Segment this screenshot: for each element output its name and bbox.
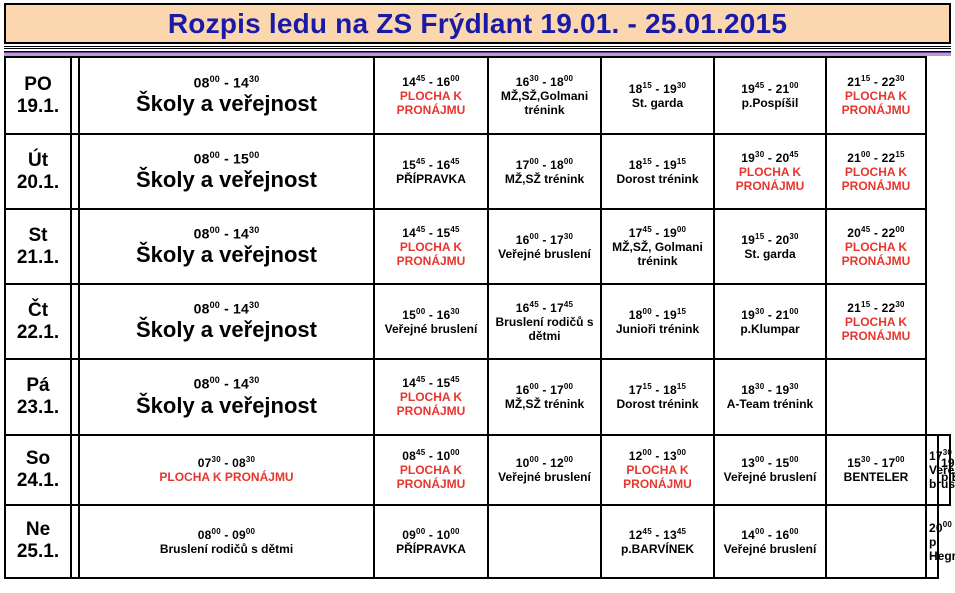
schedule-slot[interactable]: 1000 - 1200Veřejné bruslení — [488, 435, 601, 505]
schedule-slot[interactable]: 1700 - 1800MŽ,SŽ trénink — [488, 134, 601, 209]
slot-label: PLOCHA K PRONÁJMU — [82, 470, 371, 484]
slot-label: PŘÍPRAVKA — [377, 542, 485, 556]
schedule-row: Út20.1.0800 - 1500Školy a veřejnost1545 … — [5, 134, 950, 209]
slot-label: PLOCHA K PRONÁJMU — [377, 463, 485, 491]
slot-label: PLOCHA K PRONÁJMU — [829, 165, 923, 193]
slot-time: 1600 - 1730 — [491, 232, 598, 247]
slot-time: 1300 - 1500 — [717, 455, 823, 470]
slot-label: MŽ,SŽ,Golmani trénink — [491, 89, 598, 117]
slot-time: 1545 - 1645 — [377, 157, 485, 172]
slot-label: St. garda — [717, 247, 823, 261]
schedule-table: PO19.1.0800 - 1430Školy a veřejnost1445 … — [4, 56, 951, 579]
slot-time: 2000 - 2200 — [829, 361, 923, 376]
schedule-slot[interactable]: 1445 - 1600PLOCHA K PRONÁJMU — [374, 57, 488, 134]
schedule-slot[interactable]: 1930 - 2100p.Klumpar — [714, 284, 826, 359]
schedule-slot[interactable]: 0800 - 1430Školy a veřejnost — [79, 284, 374, 359]
slot-time: 1400 - 1600 — [717, 527, 823, 542]
row-spacer — [71, 359, 79, 435]
day-date: 20.1. — [8, 172, 68, 194]
slot-label: HC Frýdlant - TJ Spartak N.Město Junioři… — [829, 376, 923, 433]
slot-label: Školy a veřejnost — [82, 317, 371, 343]
slot-time: 0900 - 1000 — [377, 527, 485, 542]
day-name: Út — [8, 150, 68, 172]
slot-label: PŘÍPRAVKA — [377, 172, 485, 186]
day-cell-so: So24.1. — [5, 435, 71, 505]
slot-label: Školy a veřejnost — [82, 242, 371, 268]
slot-label: PLOCHA K PRONÁJMU — [377, 240, 485, 268]
slot-time: 1500 - 1630 — [377, 307, 485, 322]
divider-stripe-white — [4, 46, 951, 49]
slot-label: PLOCHA K PRONÁJMU — [604, 463, 711, 491]
slot-label: p.Bartoš — [941, 470, 947, 484]
schedule-slot[interactable]: 2045 - 2200PLOCHA K PRONÁJMU — [826, 209, 926, 284]
slot-label: Školy a veřejnost — [82, 393, 371, 419]
slot-label: A-Team trénink — [717, 397, 823, 411]
schedule-slot[interactable]: 1400 - 1600Veřejné bruslení — [714, 505, 826, 578]
slot-time: 0800 - 0900 — [82, 527, 371, 542]
day-date: 23.1. — [8, 397, 68, 419]
slot-time: 1445 - 1545 — [377, 375, 485, 390]
slot-time: 2115 - 2230 — [829, 74, 923, 89]
schedule-slot[interactable]: 0800 - 1430Školy a veřejnost — [79, 359, 374, 435]
schedule-row: St21.1.0800 - 1430Školy a veřejnost1445 … — [5, 209, 950, 284]
schedule-slot[interactable]: 2000 - 2200HC Frýdlant - TJ Spartak N.Mě… — [826, 359, 926, 435]
slot-time: 1930 - 2045 — [941, 455, 947, 470]
day-date: 25.1. — [8, 541, 68, 563]
day-cell-út: Út20.1. — [5, 134, 71, 209]
slot-label: Dorost trénink — [604, 397, 711, 411]
slot-time: 1930 - 2045 — [717, 150, 823, 165]
slot-label: Dorost trénink — [604, 172, 711, 186]
slot-time: 0730 - 0830 — [82, 455, 371, 470]
day-cell-ne: Ne25.1. — [5, 505, 71, 578]
schedule-slot[interactable]: 1445 - 1545PLOCHA K PRONÁJMU — [374, 209, 488, 284]
slot-label: PLOCHA K PRONÁJMU — [717, 165, 823, 193]
schedule-slot[interactable]: 1630 - 1800MŽ,SŽ,Golmani trénink — [488, 57, 601, 134]
slot-time: 1745 - 1900 — [604, 225, 711, 240]
header-divider — [4, 46, 951, 56]
schedule-slot[interactable]: 0730 - 0830PLOCHA K PRONÁJMU — [79, 435, 374, 505]
row-spacer — [71, 435, 79, 505]
day-name: Čt — [8, 300, 68, 322]
schedule-slot[interactable]: 0900 - 1000PŘÍPRAVKA — [374, 505, 488, 578]
slot-time: 1715 - 1815 — [604, 382, 711, 397]
schedule-row: So24.1.0730 - 0830PLOCHA K PRONÁJMU0845 … — [5, 435, 950, 505]
schedule-row: Čt22.1.0800 - 1430Školy a veřejnost1500 … — [5, 284, 950, 359]
slot-label: Veřejné bruslení — [929, 463, 935, 491]
slot-label: Bruslení rodičů s dětmi — [491, 315, 598, 343]
slot-label: Junioři trénink — [604, 322, 711, 336]
schedule-slot[interactable]: 0800 - 0900Bruslení rodičů s dětmi — [79, 505, 374, 578]
slot-time: 1245 - 1345 — [604, 527, 711, 542]
slot-label: p.Pospíšil — [717, 96, 823, 110]
slot-time: 1000 - 1200 — [491, 455, 598, 470]
schedule-slot[interactable]: 2115 - 2230PLOCHA K PRONÁJMU — [826, 57, 926, 134]
slot-time: 1600 - 1700 — [491, 382, 598, 397]
day-date: 22.1. — [8, 322, 68, 344]
schedule-slot[interactable]: 1300 - 1500Veřejné bruslení — [714, 435, 826, 505]
day-cell-po: PO19.1. — [5, 57, 71, 134]
schedule-slot[interactable]: 1645 - 1745Bruslení rodičů s dětmi — [488, 284, 601, 359]
schedule-page: Rozpis ledu na ZS Frýdlant 19.01. - 25.0… — [0, 0, 955, 593]
slot-time: 1915 - 2030 — [717, 232, 823, 247]
slot-time: 1945 - 2100 — [717, 81, 823, 96]
schedule-row: PO19.1.0800 - 1430Školy a veřejnost1445 … — [5, 57, 950, 134]
slot-time: 1800 - 1915 — [604, 307, 711, 322]
slot-time: 1445 - 1600 — [377, 74, 485, 89]
slot-time: 0845 - 1000 — [377, 448, 485, 463]
slot-label: Frýdlant - HC Nová Paka/Jičín Ml. žáci z… — [491, 528, 598, 570]
day-name: St — [8, 225, 68, 247]
day-name: PO — [8, 74, 68, 96]
schedule-slot[interactable]: 1715 - 1815Dorost trénink — [601, 359, 714, 435]
day-date: 19.1. — [8, 96, 68, 118]
schedule-slot[interactable]: 1530 - 1700BENTELER — [826, 435, 926, 505]
row-spacer — [71, 284, 79, 359]
slot-label: MŽ,SŽ trénink — [491, 397, 598, 411]
slot-time: 1200 - 1300 — [604, 448, 711, 463]
slot-label: Veřejné bruslení — [491, 470, 598, 484]
slot-label: Veřejné bruslení — [717, 542, 823, 556]
row-spacer — [71, 505, 79, 578]
day-name: Ne — [8, 519, 68, 541]
slot-label: MŽ,SŽ trénink — [491, 172, 598, 186]
slot-time: 1700 - 1930 — [829, 512, 923, 527]
schedule-slot[interactable]: 0800 - 1500Školy a veřejnost — [79, 134, 374, 209]
schedule-slot[interactable]: 1815 - 1930St. garda — [601, 57, 714, 134]
schedule-slot[interactable]: 1700 - 1930HC Frýdlant - HC Lomnice n.P.… — [826, 505, 926, 578]
slot-label: Veřejné bruslení — [491, 247, 598, 261]
slot-label: MŽ,SŽ, Golmani trénink — [604, 240, 711, 268]
schedule-slot[interactable]: 1745 - 1900MŽ,SŽ, Golmani trénink — [601, 209, 714, 284]
slot-time: 1830 - 1930 — [717, 382, 823, 397]
schedule-slot[interactable]: 1545 - 1645PŘÍPRAVKA — [374, 134, 488, 209]
schedule-slot[interactable]: 0800 - 1430Školy a veřejnost — [79, 57, 374, 134]
slot-time: 1445 - 1545 — [377, 225, 485, 240]
schedule-row: Ne25.1.0800 - 0900Bruslení rodičů s dětm… — [5, 505, 950, 578]
slot-time: 0800 - 1430 — [82, 300, 371, 317]
day-cell-čt: Čt22.1. — [5, 284, 71, 359]
slot-label: Bruslení rodičů s dětmi — [82, 542, 371, 556]
schedule-slot[interactable]: 1815 - 1915Dorost trénink — [601, 134, 714, 209]
schedule-slot[interactable]: 2000 - 2130p. Hegr — [926, 505, 938, 578]
schedule-slot[interactable]: 1200 - 1300PLOCHA K PRONÁJMU — [601, 435, 714, 505]
slot-time: 1630 - 1800 — [491, 74, 598, 89]
schedule-slot[interactable]: 0845 - 1000PLOCHA K PRONÁJMU — [374, 435, 488, 505]
schedule-slot[interactable]: 1800 - 1915Junioři trénink — [601, 284, 714, 359]
schedule-slot[interactable]: 1830 - 1930A-Team trénink — [714, 359, 826, 435]
slot-label: p.Klumpar — [717, 322, 823, 336]
row-spacer — [71, 57, 79, 134]
slot-time: 1030 — [491, 512, 598, 527]
schedule-row: Pá23.1.0800 - 1430Školy a veřejnost1445 … — [5, 359, 950, 435]
schedule-slot[interactable]: 1730 - 1900Veřejné bruslení — [926, 435, 938, 505]
slot-label: Veřejné bruslení — [377, 322, 485, 336]
slot-label: p. Hegr — [929, 535, 935, 563]
schedule-slot[interactable]: 1500 - 1630Veřejné bruslení — [374, 284, 488, 359]
slot-time: 2045 - 2200 — [829, 225, 923, 240]
schedule-slot[interactable]: 1915 - 2030St. garda — [714, 209, 826, 284]
slot-label: Školy a veřejnost — [82, 167, 371, 193]
slot-label: HC Frýdlant - HC Lomnice n.P. A-Team záp… — [829, 528, 923, 570]
slot-label: Veřejné bruslení — [717, 470, 823, 484]
slot-time: 0800 - 1430 — [82, 225, 371, 242]
day-cell-pá: Pá23.1. — [5, 359, 71, 435]
slot-time: 2115 - 2230 — [829, 300, 923, 315]
schedule-slot[interactable]: 1445 - 1545PLOCHA K PRONÁJMU — [374, 359, 488, 435]
day-name: Pá — [8, 375, 68, 397]
slot-label: PLOCHA K PRONÁJMU — [829, 315, 923, 343]
page-title: Rozpis ledu na ZS Frýdlant 19.01. - 25.0… — [168, 8, 787, 40]
slot-label: PLOCHA K PRONÁJMU — [377, 390, 485, 418]
schedule-slot[interactable]: 1030Frýdlant - HC Nová Paka/Jičín Ml. žá… — [488, 505, 601, 578]
slot-time: 1930 - 2100 — [717, 307, 823, 322]
slot-time: 1645 - 1745 — [491, 300, 598, 315]
slot-time: 1815 - 1915 — [604, 157, 711, 172]
day-date: 24.1. — [8, 470, 68, 492]
slot-label: p.BARVÍNEK — [604, 542, 711, 556]
slot-label: PLOCHA K PRONÁJMU — [829, 240, 923, 268]
slot-label: St. garda — [604, 96, 711, 110]
title-banner: Rozpis ledu na ZS Frýdlant 19.01. - 25.0… — [4, 3, 951, 44]
slot-time: 1530 - 1700 — [829, 455, 923, 470]
slot-label: PLOCHA K PRONÁJMU — [377, 89, 485, 117]
slot-label: PLOCHA K PRONÁJMU — [829, 89, 923, 117]
slot-time: 1730 - 1900 — [929, 448, 935, 463]
day-date: 21.1. — [8, 247, 68, 269]
slot-time: 1815 - 1930 — [604, 81, 711, 96]
slot-label: BENTELER — [829, 470, 923, 484]
slot-time: 1700 - 1800 — [491, 157, 598, 172]
slot-time: 0800 - 1430 — [82, 375, 371, 392]
row-spacer — [71, 134, 79, 209]
schedule-slot[interactable]: 1945 - 2100p.Pospíšil — [714, 57, 826, 134]
schedule-slot[interactable]: 1930 - 2045PLOCHA K PRONÁJMU — [714, 134, 826, 209]
schedule-slot[interactable]: 1600 - 1730Veřejné bruslení — [488, 209, 601, 284]
day-cell-st: St21.1. — [5, 209, 71, 284]
schedule-slot[interactable]: 2100 - 2215PLOCHA K PRONÁJMU — [826, 134, 926, 209]
slot-label: Školy a veřejnost — [82, 91, 371, 117]
slot-time: 0800 - 1430 — [82, 74, 371, 91]
day-name: So — [8, 448, 68, 470]
schedule-slot[interactable]: 0800 - 1430Školy a veřejnost — [79, 209, 374, 284]
slot-time: 2100 - 2215 — [829, 150, 923, 165]
schedule-slot[interactable]: 1245 - 1345p.BARVÍNEK — [601, 505, 714, 578]
slot-time: 0800 - 1500 — [82, 150, 371, 167]
schedule-slot[interactable]: 1600 - 1700MŽ,SŽ trénink — [488, 359, 601, 435]
row-spacer — [71, 209, 79, 284]
slot-time: 2000 - 2130 — [929, 520, 935, 535]
schedule-slot[interactable]: 2115 - 2230PLOCHA K PRONÁJMU — [826, 284, 926, 359]
